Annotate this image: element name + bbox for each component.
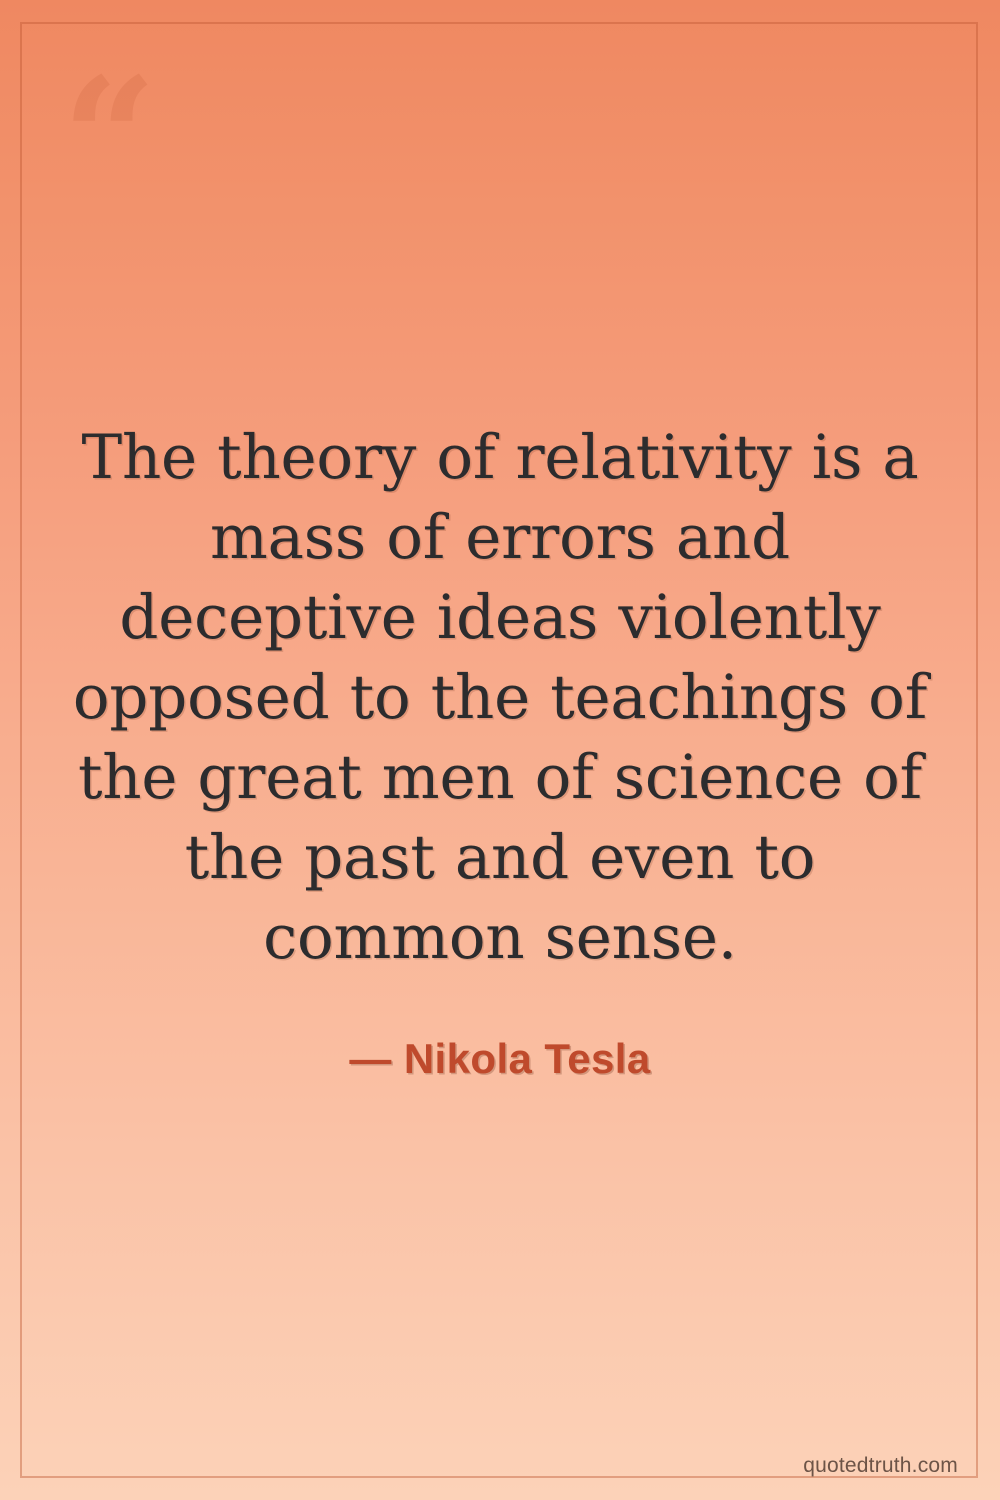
quote-card: “ The theory of relativity is a mass of … <box>0 0 1000 1500</box>
site-watermark: quotedtruth.com <box>803 1454 958 1478</box>
quote-attribution: — Nikola Tesla <box>349 978 650 1082</box>
quote-text: The theory of relativity is a mass of er… <box>60 418 940 978</box>
quote-content-block: The theory of relativity is a mass of er… <box>60 0 940 1500</box>
